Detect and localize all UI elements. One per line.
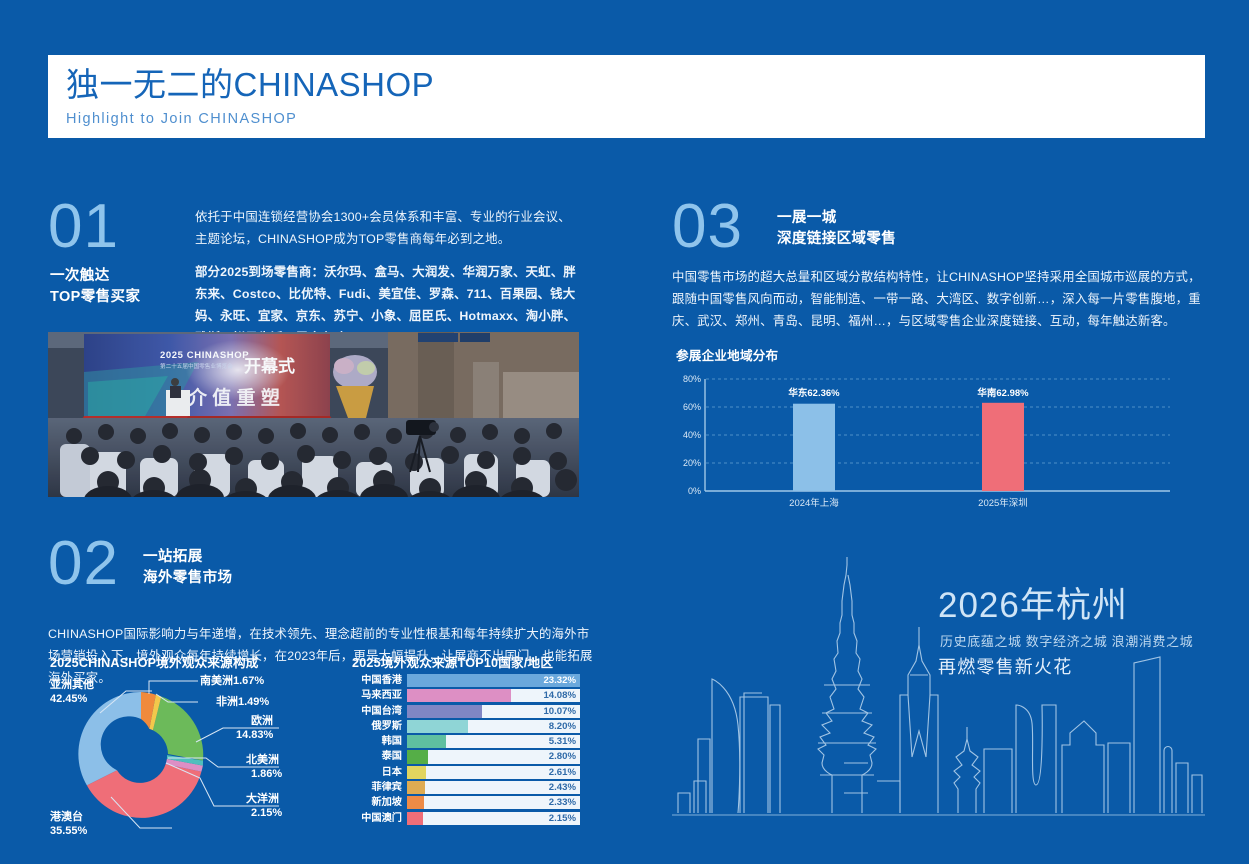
hbar-row-track: 8.20%: [407, 720, 580, 733]
hbar-row: 日本2.61%: [352, 766, 580, 779]
pie-slice-europe: [153, 697, 203, 761]
section-01-heading-line1: 一次触达: [50, 266, 140, 287]
hbar-row-track: 2.61%: [407, 766, 580, 779]
section-01-heading: 一次触达 TOP零售买家: [50, 266, 140, 308]
vbar-gridlines: [706, 379, 1170, 463]
hbar-row-label: 菲律宾: [352, 781, 407, 794]
hbar-row-value: 10.07%: [543, 705, 576, 718]
hbar-row-fill: [407, 689, 511, 702]
svg-text:40%: 40%: [683, 430, 701, 440]
pie-label-south-america: 南美洲1.67%: [200, 674, 264, 688]
hbar-row-track: 2.43%: [407, 781, 580, 794]
hbar-row-value: 2.61%: [549, 766, 576, 779]
hbar-row-value: 23.32%: [543, 674, 576, 687]
hbar-row: 俄罗斯8.20%: [352, 720, 580, 733]
page-subtitle: Highlight to Join CHINASHOP: [66, 109, 1205, 129]
hbar-row-fill: [407, 781, 425, 794]
hbar-row-fill: [407, 812, 423, 825]
section-01-heading-line2: TOP零售买家: [50, 287, 140, 308]
hangzhou-title: 2026年杭州: [938, 585, 1128, 627]
svg-text:80%: 80%: [683, 374, 701, 384]
section-02-heading-line2: 海外零售市场: [143, 568, 232, 589]
pie-slices: [78, 692, 203, 818]
pie-label-asia-other-value: 42.45%: [50, 692, 87, 706]
photo-artwork: 2025 CHINASHOP 第二十五届中国零售业博览会 开幕式 介 值 重 塑: [48, 332, 579, 497]
vbar-category-2025: 2025年深圳: [978, 497, 1028, 509]
section-03-heading-line2: 深度链接区域零售: [777, 229, 896, 250]
hbar-row: 中国香港23.32%: [352, 674, 580, 687]
hbar-row-fill: [407, 750, 428, 763]
hbar-row-label: 日本: [352, 766, 407, 779]
svg-text:0%: 0%: [688, 486, 701, 496]
hbar-row-label: 新加坡: [352, 796, 407, 809]
opening-ceremony-photo: 2025 CHINASHOP 第二十五届中国零售业博览会 开幕式 介 值 重 塑: [48, 332, 579, 497]
hbar-row-label: 俄罗斯: [352, 720, 407, 733]
hbar-row: 马来西亚14.08%: [352, 689, 580, 702]
vbar-bar-2025: [982, 403, 1024, 491]
hbar-row-value: 2.43%: [549, 781, 576, 794]
pie-label-north-america-name: 北美洲: [246, 753, 279, 767]
vbar-datalabel-2025: 华南62.98%: [977, 387, 1029, 399]
hbar-row: 中国台湾10.07%: [352, 705, 580, 718]
section-03-paragraph-1: 中国零售市场的超大总量和区域分散结构特性，让CHINASHOP坚持采用全国城市巡…: [672, 266, 1212, 332]
hbar-chart-title: 2025境外观众来源TOP10国家/地区: [352, 652, 553, 671]
hbar-row-track: 5.31%: [407, 735, 580, 748]
section-02-heading: 一站拓展 海外零售市场: [143, 547, 232, 589]
hbar-row-label: 中国澳门: [352, 812, 407, 825]
hbar-row: 新加坡2.33%: [352, 796, 580, 809]
hbar-row-label: 中国台湾: [352, 705, 407, 718]
hbar-row-label: 中国香港: [352, 674, 407, 687]
hbar-row-value: 14.08%: [543, 689, 576, 702]
pie-label-oceania-value: 2.15%: [251, 806, 282, 820]
vbar-chart-title: 参展企业地域分布: [676, 345, 778, 364]
hbar-row-label: 泰国: [352, 750, 407, 763]
overseas-source-pie-chart: 2025CHINASHOP境外观众来源构成: [48, 652, 338, 847]
hbar-row-track: 2.15%: [407, 812, 580, 825]
hangzhou-subtitle: 历史底蕴之城 数字经济之城 浪潮消费之城: [940, 633, 1193, 651]
header-banner: 独一无二的CHINASHOP Highlight to Join CHINASH…: [48, 55, 1205, 138]
vbar-y-ticklabels: 80% 60% 40% 20% 0%: [683, 374, 701, 496]
section-03-heading: 一展一城 深度链接区域零售: [777, 208, 896, 250]
hbar-row-fill: [407, 735, 446, 748]
section-02-heading-line1: 一站拓展: [143, 547, 232, 568]
hbar-row-track: 10.07%: [407, 705, 580, 718]
hbar-row-track: 2.33%: [407, 796, 580, 809]
pie-label-europe-value: 14.83%: [236, 728, 273, 742]
hbar-row-value: 2.15%: [549, 812, 576, 825]
exhibitor-region-chart: 参展企业地域分布 80% 60% 40% 20% 0% 华东62.36% 华南6…: [672, 345, 1172, 510]
pie-label-asia-other-name: 亚洲其他: [50, 678, 94, 692]
hbar-row: 菲律宾2.43%: [352, 781, 580, 794]
hbar-row-value: 2.80%: [549, 750, 576, 763]
hbar-row-value: 8.20%: [549, 720, 576, 733]
hbar-row-fill: [407, 705, 482, 718]
vbar-chart-graphic: 80% 60% 40% 20% 0% 华东62.36% 华南62.98% 202…: [672, 367, 1172, 510]
hbar-row-fill: [407, 720, 468, 733]
poster-page: 独一无二的CHINASHOP Highlight to Join CHINASH…: [0, 0, 1249, 864]
hbar-rows: 中国香港23.32%马来西亚14.08%中国台湾10.07%俄罗斯8.20%韩国…: [352, 674, 580, 827]
hbar-row-label: 韩国: [352, 735, 407, 748]
pie-label-hmt-name: 港澳台: [50, 810, 83, 824]
section-01-paragraph-1: 依托于中国连锁经营协会1300+会员体系和丰富、专业的行业会议、主题论坛，CHI…: [195, 206, 580, 250]
section-02-number: 02: [48, 533, 119, 595]
hbar-row: 韩国5.31%: [352, 735, 580, 748]
page-title: 独一无二的CHINASHOP: [66, 63, 1205, 107]
hbar-row-track: 14.08%: [407, 689, 580, 702]
section-03-heading-line1: 一展一城: [777, 208, 896, 229]
pie-label-hmt-value: 35.55%: [50, 824, 87, 838]
hbar-row-value: 2.33%: [549, 796, 576, 809]
section-01-number: 01: [48, 196, 119, 258]
vbar-datalabel-2024: 华东62.36%: [788, 387, 840, 399]
pie-label-oceania-name: 大洋洲: [246, 792, 279, 806]
pie-chart-graphic: [48, 666, 338, 848]
section-01-body: 依托于中国连锁经营协会1300+会员体系和丰富、专业的行业会议、主题论坛，CHI…: [195, 206, 580, 349]
pie-slice-asia-other: [78, 692, 141, 785]
hbar-row-label: 马来西亚: [352, 689, 407, 702]
hbar-row-fill: [407, 766, 426, 779]
pie-label-europe-name: 欧洲: [251, 714, 273, 728]
section-03-number: 03: [672, 196, 743, 258]
hbar-row: 泰国2.80%: [352, 750, 580, 763]
svg-text:20%: 20%: [683, 458, 701, 468]
hangzhou-block: 2026年杭州 历史底蕴之城 数字经济之城 浪潮消费之城 再燃零售新火花: [672, 545, 1205, 850]
hbar-row-track: 23.32%: [407, 674, 580, 687]
vbar-bar-2024: [793, 404, 835, 491]
pie-label-africa: 非洲1.49%: [216, 695, 269, 709]
hbar-row-fill: [407, 796, 424, 809]
hbar-row-value: 5.31%: [549, 735, 576, 748]
pie-label-north-america-value: 1.86%: [251, 767, 282, 781]
hbar-row: 中国澳门2.15%: [352, 812, 580, 825]
svg-text:60%: 60%: [683, 402, 701, 412]
vbar-category-2024: 2024年上海: [789, 497, 839, 509]
hbar-row-track: 2.80%: [407, 750, 580, 763]
hangzhou-tagline: 再燃零售新火花: [938, 654, 1072, 680]
